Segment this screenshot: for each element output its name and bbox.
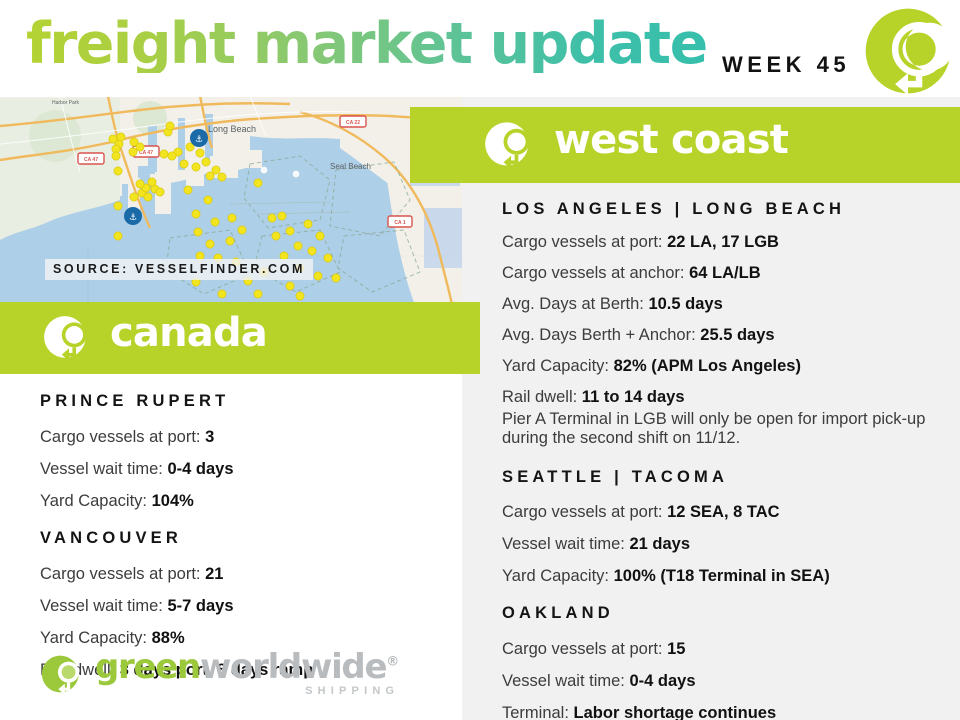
- stat-label: Cargo vessels at anchor:: [502, 264, 685, 282]
- port-heading-vancouver: VANCOUVER: [40, 529, 460, 548]
- stat-row: Yard Capacity: 100% (T18 Terminal in SEA…: [502, 567, 948, 586]
- logo-word-green: green: [95, 647, 200, 687]
- stat-row: Terminal: Labor shortage continues: [502, 704, 948, 720]
- stat-row: Vessel wait time: 0-4 days: [40, 460, 460, 479]
- stat-row: Cargo vessels at port: 22 LA, 17 LGB: [502, 233, 948, 252]
- stat-value: 0-4 days: [629, 672, 695, 690]
- canada-section-title: canada: [110, 313, 267, 353]
- svg-text:Harbor Park: Harbor Park: [52, 100, 79, 106]
- port-heading-la-lgb: LOS ANGELES | LONG BEACH: [502, 200, 948, 219]
- stat-label: Vessel wait time:: [40, 460, 163, 478]
- stat-label: Yard Capacity:: [502, 567, 609, 585]
- stat-value: 82% (APM Los Angeles): [614, 357, 801, 375]
- page-header: freight market update WEEK 45: [0, 0, 960, 97]
- stat-row: Vessel wait time: 21 days: [502, 535, 948, 554]
- canada-section-bar: canada: [0, 302, 480, 374]
- stat-label: Vessel wait time:: [40, 597, 163, 615]
- green-worldwide-circle-logo-icon: [42, 312, 94, 364]
- port-heading-sea-tac: SEATTLE | TACOMA: [502, 468, 948, 487]
- stat-value: 11 to 14 days: [582, 388, 685, 406]
- stat-value: 25.5 days: [700, 326, 774, 344]
- svg-text:CA 47: CA 47: [84, 157, 98, 163]
- stat-row: Cargo vessels at port: 15: [502, 640, 948, 659]
- stat-value: 10.5 days: [648, 295, 722, 313]
- svg-text:⚓: ⚓: [129, 213, 137, 223]
- stat-label: Yard Capacity:: [502, 357, 609, 375]
- svg-text:⚓: ⚓: [195, 135, 203, 145]
- map-source-label: SOURCE: VESSELFINDER.COM: [45, 259, 313, 280]
- stat-value: 104%: [152, 492, 194, 510]
- port-heading-prince-rupert: PRINCE RUPERT: [40, 392, 460, 411]
- stat-row: Cargo vessels at port: 3: [40, 428, 460, 447]
- logo-wordmark: greenworldwide®: [95, 650, 399, 684]
- week-label: WEEK 45: [722, 52, 850, 78]
- registered-mark: ®: [386, 655, 399, 670]
- stat-row: Yard Capacity: 104%: [40, 492, 460, 511]
- stat-row: Rail dwell: 11 to 14 days: [502, 388, 948, 407]
- page-title: freight market update: [26, 16, 707, 73]
- stat-label: Yard Capacity:: [40, 492, 147, 510]
- stat-row: Yard Capacity: 88%: [40, 629, 460, 648]
- port-heading-oakland: OAKLAND: [502, 604, 948, 623]
- stat-value: 12 SEA, 8 TAC: [667, 503, 779, 521]
- stat-value: 0-4 days: [167, 460, 233, 478]
- west-coast-content: LOS ANGELES | LONG BEACH Cargo vessels a…: [502, 200, 948, 720]
- stat-value: 5-7 days: [167, 597, 233, 615]
- stat-label: Rail dwell:: [502, 388, 577, 406]
- green-worldwide-circle-logo-icon: [483, 118, 537, 172]
- port-note-la-lgb: Pier A Terminal in LGB will only be open…: [502, 410, 948, 448]
- stat-row: Avg. Days at Berth: 10.5 days: [502, 295, 948, 314]
- svg-text:CA 22: CA 22: [346, 120, 360, 126]
- logo-word-worldwide: worldwide: [200, 647, 386, 687]
- svg-text:Seal Beach: Seal Beach: [330, 162, 371, 171]
- stat-row: Cargo vessels at port: 12 SEA, 8 TAC: [502, 503, 948, 522]
- stat-label: Vessel wait time:: [502, 672, 625, 690]
- west-coast-section-title: west coast: [554, 120, 788, 160]
- stat-row: Vessel wait time: 5-7 days: [40, 597, 460, 616]
- stat-row: Vessel wait time: 0-4 days: [502, 672, 948, 691]
- stat-label: Yard Capacity:: [40, 629, 147, 647]
- infographic-canvas: CA 47 CA 47 CA 22 CA 1 Long Beach Seal B…: [0, 0, 960, 720]
- stat-value: 64 LA/LB: [689, 264, 761, 282]
- stat-label: Avg. Days at Berth:: [502, 295, 644, 313]
- west-coast-section-bar: west coast: [410, 107, 960, 183]
- stat-value: 22 LA, 17 LGB: [667, 233, 779, 251]
- stat-label: Cargo vessels at port:: [502, 233, 663, 251]
- stat-value: 15: [667, 640, 685, 658]
- stat-label: Cargo vessels at port:: [40, 565, 201, 583]
- stat-row: Yard Capacity: 82% (APM Los Angeles): [502, 357, 948, 376]
- stat-value: 21: [205, 565, 223, 583]
- green-worldwide-circle-logo-icon: [862, 5, 954, 97]
- stat-value: 21 days: [629, 535, 690, 553]
- stat-row: Cargo vessels at port: 21: [40, 565, 460, 584]
- stat-label: Vessel wait time:: [502, 535, 625, 553]
- green-worldwide-shipping-logo[interactable]: greenworldwide® SHIPPING: [40, 650, 399, 697]
- stat-row: Cargo vessels at anchor: 64 LA/LB: [502, 264, 948, 283]
- stat-value: 100% (T18 Terminal in SEA): [614, 567, 830, 585]
- stat-label: Cargo vessels at port:: [40, 428, 201, 446]
- stat-value: Labor shortage continues: [574, 704, 777, 720]
- stat-label: Avg. Days Berth + Anchor:: [502, 326, 696, 344]
- green-worldwide-circle-logo-icon: [40, 651, 86, 697]
- canada-content: PRINCE RUPERT Cargo vessels at port: 3 V…: [40, 392, 460, 680]
- stat-row: Avg. Days Berth + Anchor: 25.5 days: [502, 326, 948, 345]
- svg-text:Long Beach: Long Beach: [208, 124, 256, 134]
- svg-text:CA 1: CA 1: [394, 220, 405, 226]
- stat-value: 3: [205, 428, 214, 446]
- stat-label: Cargo vessels at port:: [502, 640, 663, 658]
- stat-label: Terminal:: [502, 704, 569, 720]
- stat-value: 88%: [152, 629, 185, 647]
- stat-label: Cargo vessels at port:: [502, 503, 663, 521]
